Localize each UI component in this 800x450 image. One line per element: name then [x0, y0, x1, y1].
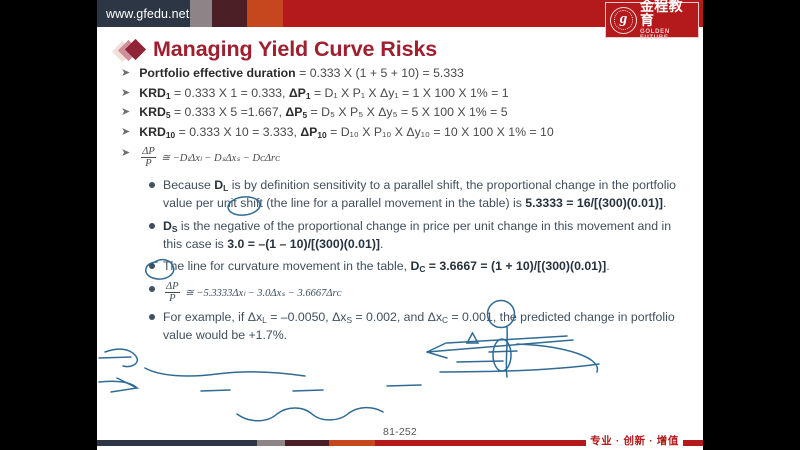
- arrow-bullet-icon: ➤: [121, 146, 130, 160]
- round-bullet-icon: [149, 263, 155, 269]
- arrow-left-upper-head: [427, 343, 447, 358]
- bullet-text: The line for curvature movement in the t…: [163, 258, 610, 276]
- page-title: Managing Yield Curve Risks: [153, 37, 437, 62]
- bullet-text: DS is the negative of the proportional c…: [163, 218, 683, 253]
- arrow-item-krd-1: ➤ KRD1 = 0.333 X 1 = 0.333, ΔP1 = D₁ X P…: [121, 86, 693, 101]
- formula-numeric: ΔP P ≅ −5.3333Δxₗ − 3.0Δxₛ − 3.6667Δrᴄ: [163, 281, 341, 304]
- wavy-underline-annotation-2: [349, 408, 383, 413]
- arrow-example-annotation: [99, 381, 137, 388]
- arrow-item-text: Portfolio effective duration = 0.333 X (…: [139, 66, 464, 81]
- sweep-curve-annotation: [517, 344, 597, 372]
- slide-body: ➤ Portfolio effective duration = 0.333 X…: [97, 66, 703, 344]
- round-bullet-icon: [149, 314, 155, 320]
- slide-header-bar: www.gfedu.net 金程教育 GOLDEN FUTURE: [97, 0, 703, 27]
- logo-wordmark: 金程教育 GOLDEN FUTURE: [640, 0, 694, 41]
- round-bullet-icon: [149, 223, 155, 229]
- logo-english-name: GOLDEN FUTURE: [640, 29, 694, 41]
- formula-main-body: ≅ −DₗΔxₗ − DₛΔxₛ − DᴄΔrᴄ: [161, 153, 280, 164]
- video-player-frame: www.gfedu.net 金程教育 GOLDEN FUTURE Managin…: [0, 0, 800, 450]
- round-bullet-icon: [149, 182, 155, 188]
- arrow-left-lower-stroke: [99, 357, 131, 358]
- logo-seal-icon: [610, 7, 637, 34]
- website-url-chip: www.gfedu.net: [97, 0, 190, 27]
- formula-numeric-body: ≅ −5.3333Δxₗ − 3.0Δxₛ − 3.6667Δrᴄ: [185, 288, 341, 299]
- formula-main: ΔP P ≅ −DₗΔxₗ − DₛΔxₛ − DᴄΔrᴄ: [139, 146, 280, 169]
- arrow-item-text: KRD1 = 0.333 X 1 = 0.333, ΔP1 = D₁ X P₁ …: [139, 86, 508, 101]
- arrow-bullet-icon: ➤: [121, 105, 130, 119]
- arrow-bullet-icon: ➤: [121, 125, 130, 139]
- footer-band-navy: [97, 440, 257, 446]
- footer-band-gray: [257, 440, 285, 446]
- arrow-item-text: KRD5 = 0.333 X 5 =1.667, ΔP5 = D₅ X P₅ X…: [139, 105, 507, 120]
- sweep-curve-annotation-2: [440, 364, 599, 372]
- delta-p-over-p-fraction: ΔP P: [141, 146, 156, 169]
- bullet-numeric-formula: ΔP P ≅ −5.3333Δxₗ − 3.0Δxₛ − 3.6667Δrᴄ: [149, 281, 693, 304]
- arrow-item-text: KRD10 = 0.333 X 10 = 3.333, ΔP10 = D₁₀ X…: [139, 125, 554, 140]
- bullet-ds-definition: DS is the negative of the proportional c…: [149, 218, 693, 253]
- arrow-example-head: [111, 378, 137, 392]
- diamond-bullet-icon: [115, 39, 145, 61]
- round-bullet-icon: [149, 286, 155, 292]
- header-band-orange: [247, 0, 283, 27]
- underline-numeric-formula-annotation: [145, 368, 305, 376]
- footer-band-maroon: [285, 440, 329, 446]
- underline-dxc-annotation: [387, 385, 421, 386]
- arrow-item-krd-10: ➤ KRD10 = 0.333 X 10 = 3.333, ΔP10 = D₁₀…: [121, 125, 693, 140]
- underline-dxs-annotation: [293, 390, 323, 391]
- bullet-text: Because DL is by definition sensitivity …: [163, 177, 683, 212]
- bullet-parallel-shift: Because DL is by definition sensitivity …: [149, 177, 693, 212]
- bullet-example: For example, if ΔxL = –0.0050, ΔxS = 0.0…: [149, 309, 693, 344]
- arrow-bullet-icon: ➤: [121, 86, 130, 100]
- formula-main-row: ➤ ΔP P ≅ −DₗΔxₗ − DₛΔxₛ − DᴄΔrᴄ: [121, 146, 693, 169]
- arrow-item-krd-5: ➤ KRD5 = 0.333 X 5 =1.667, ΔP5 = D₅ X P₅…: [121, 105, 693, 120]
- website-url-text: www.gfedu.net: [106, 7, 189, 21]
- underline-dxl-annotation: [201, 390, 230, 391]
- brand-logo: 金程教育 GOLDEN FUTURE: [605, 2, 699, 38]
- wavy-underline-annotation: [237, 408, 349, 421]
- slide-title-row: Managing Yield Curve Risks: [115, 37, 703, 62]
- arrow-left-lower-annotation: [105, 349, 137, 366]
- delta-p-over-p-fraction: ΔP P: [165, 281, 180, 304]
- logo-chinese-name: 金程教育: [640, 0, 694, 27]
- footer-tagline: 专业 · 创新 · 增值: [586, 433, 683, 448]
- header-band-maroon: [212, 0, 247, 27]
- arrow-item-portfolio-effective-duration: ➤ Portfolio effective duration = 0.333 X…: [121, 66, 693, 81]
- header-band-gray: [190, 0, 212, 27]
- arrow-bullet-icon: ➤: [121, 66, 130, 80]
- bullet-curvature: The line for curvature movement in the t…: [149, 258, 693, 276]
- bullet-text: For example, if ΔxL = –0.0050, ΔxS = 0.0…: [163, 309, 683, 344]
- stroke-marks-annotation: [457, 351, 517, 362]
- footer-band-orange: [329, 440, 375, 446]
- presentation-slide: www.gfedu.net 金程教育 GOLDEN FUTURE Managin…: [97, 0, 703, 450]
